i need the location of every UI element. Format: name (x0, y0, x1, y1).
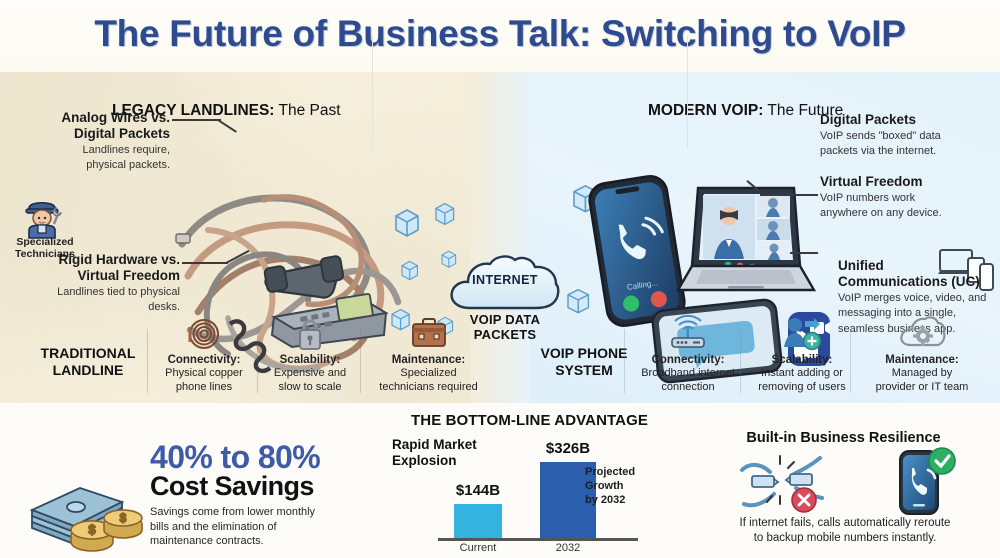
svg-text:$: $ (88, 522, 96, 537)
bar-category-2032: 2032 (523, 542, 613, 554)
technician-label-line1: Specialized (0, 236, 93, 248)
legacy-feature-connectivity: Connectivity: Physical copper phone line… (148, 315, 260, 403)
voip-scalability-line1: Instant adding or (761, 367, 843, 379)
callout-analog-wires-body-line2: physical packets. (18, 159, 170, 172)
wifi-router-icon (665, 317, 711, 351)
cost-savings-body-line1: Savings come from lower monthly (150, 505, 365, 520)
voip-panel-heading: MODERN VOIP: The Future (648, 102, 843, 120)
chart-title: THE BOTTOM-LINE ADVANTAGE (372, 412, 687, 429)
legacy-maintenance-text: Maintenance: Specialized technicians req… (361, 353, 496, 395)
cloud-gear-icon (899, 317, 945, 351)
divider (687, 36, 688, 148)
chart-annotation-line1: Projected (585, 466, 657, 480)
callout-digital-packets: Digital Packets VoIP sends "boxed" data … (820, 112, 996, 159)
legacy-scalability-line2: slow to scale (279, 381, 342, 393)
callout-rigid-hardware-body-line1: Landlines tied to physical (14, 286, 180, 299)
cost-savings-percent: 40% to 80% (150, 441, 360, 473)
leader-line-digital-packets (760, 194, 818, 196)
resilience-body-line2: to backup mobile numbers instantly. (700, 531, 990, 546)
legacy-scalability-label: Scalability: (258, 353, 362, 367)
legacy-system-label-line1: TRADITIONAL (18, 345, 158, 362)
voip-maintenance-text: Maintenance: Managed by provider or IT t… (851, 353, 993, 395)
legacy-system-label-line2: LANDLINE (18, 362, 158, 379)
legacy-scalability-line1: Expensive and (274, 367, 346, 379)
broken-cable-error-icon (740, 452, 828, 514)
resilience-title: Built-in Business Resilience (687, 430, 1000, 446)
cost-savings-body-line2: bills and the elimination of (150, 520, 365, 535)
legacy-connectivity-line1: Physical copper (165, 367, 243, 379)
copper-coil-icon (186, 317, 222, 351)
voip-maintenance-line2: provider or IT team (876, 381, 969, 393)
legacy-maintenance-label: Maintenance: (361, 353, 496, 367)
cloud-icon: INTERNET (446, 254, 564, 312)
leader-line-virtual-freedom (790, 252, 818, 254)
voip-connectivity-line1: Broadband internet (641, 367, 735, 379)
legacy-system-label: TRADITIONAL LANDLINE (18, 345, 158, 379)
voip-feature-maintenance: Maintenance: Managed by provider or IT t… (851, 315, 993, 403)
callout-uc-title-line1: Unified (838, 258, 998, 274)
callout-rigid-hardware: Rigid Hardware vs. Virtual Freedom Landl… (14, 252, 180, 315)
svg-text:$: $ (120, 511, 127, 525)
legacy-heading-rest: The Past (274, 102, 340, 119)
legacy-connectivity-line2: phone lines (176, 381, 232, 393)
legacy-connectivity-label: Connectivity: (148, 353, 260, 367)
page-title: The Future of Business Talk: Switching t… (0, 13, 1000, 55)
legacy-maintenance-line2: technicians required (379, 381, 477, 393)
leader-line-rigid (182, 262, 228, 264)
padlock-icon (295, 317, 325, 351)
resilience-body: If internet fails, calls automatically r… (700, 516, 990, 546)
callout-uc-title-line2: Communications (UC) (838, 274, 998, 290)
voip-heading-bold: MODERN VOIP: (648, 102, 763, 119)
bar-value-current: $144B (433, 482, 523, 499)
callout-uc-body-line1: VoIP merges voice, video, and (838, 292, 998, 305)
callout-virtual-freedom-body-line1: VoIP numbers work (820, 192, 980, 205)
resilience-body-line1: If internet fails, calls automatically r… (700, 516, 990, 531)
legacy-feature-maintenance: Maintenance: Specialized technicians req… (361, 315, 496, 403)
legacy-scalability-text: Scalability: Expensive and slow to scale (258, 353, 362, 395)
voip-maintenance-line1: Managed by (892, 367, 953, 379)
callout-rigid-hardware-title-line2: Virtual Freedom (14, 268, 180, 284)
callout-analog-wires-body-line1: Landlines require, (18, 144, 170, 157)
callout-digital-packets-body-line2: packets via the internet. (820, 145, 996, 158)
callout-virtual-freedom-body-line2: anywhere on any device. (820, 207, 980, 220)
laptop-video-call-icon (676, 180, 816, 296)
voip-maintenance-label: Maintenance: (851, 353, 993, 367)
chart-annotation: Projected Growth by 2032 (585, 466, 657, 508)
legacy-feature-scalability: Scalability: Expensive and slow to scale (258, 315, 362, 403)
bar-value-2032: $326B (523, 440, 613, 457)
bar-category-current: Current (433, 542, 523, 554)
cash-and-coins-icon: $ $ (26, 468, 146, 550)
voip-feature-connectivity: Connectivity: Broadband internet connect… (625, 315, 751, 403)
voip-connectivity-line2: connection (661, 381, 714, 393)
cloud-label: INTERNET (446, 273, 564, 287)
callout-digital-packets-title: Digital Packets (820, 112, 996, 128)
legacy-connectivity-text: Connectivity: Physical copper phone line… (148, 353, 260, 395)
callout-virtual-freedom-title: Virtual Freedom (820, 174, 980, 190)
voip-connectivity-label: Connectivity: (625, 353, 751, 367)
cost-savings-headline: Cost Savings (150, 473, 370, 500)
technician-worker-icon (20, 194, 64, 238)
callout-analog-wires-title-line1: Analog Wires vs. (18, 110, 170, 126)
callout-rigid-hardware-body-line2: desks. (14, 301, 180, 314)
voip-scalability-label: Scalability: (741, 353, 863, 367)
comparison-band: LEGACY LANDLINES: The Past (0, 72, 1000, 403)
leader-line-analog (172, 119, 220, 121)
callout-virtual-freedom: Virtual Freedom VoIP numbers work anywhe… (820, 174, 980, 221)
add-user-icon (781, 317, 823, 351)
bar-current (454, 504, 502, 538)
voip-feature-row: VOIP PHONE SYSTEM (500, 315, 1000, 403)
callout-rigid-hardware-title-line1: Rigid Hardware vs. (14, 252, 180, 268)
chart-annotation-line2: Growth (585, 480, 657, 494)
mobile-phone-check-icon (892, 448, 958, 516)
chart-annotation-line3: by 2032 (585, 494, 657, 508)
callout-analog-wires: Analog Wires vs. Digital Packets Landlin… (18, 110, 170, 173)
callout-analog-wires-title-line2: Digital Packets (18, 126, 170, 142)
voip-scalability-line2: removing of users (758, 381, 845, 393)
voip-scalability-text: Scalability: Instant adding or removing … (741, 353, 863, 395)
divider (372, 36, 373, 148)
cost-savings-body: Savings come from lower monthly bills an… (150, 505, 365, 549)
chart-axis (438, 538, 638, 541)
callout-digital-packets-body-line1: VoIP sends "boxed" data (820, 130, 996, 143)
legacy-maintenance-line1: Specialized (400, 367, 456, 379)
title-band: The Future of Business Talk: Switching t… (0, 0, 1000, 72)
legacy-feature-row: TRADITIONAL LANDLINE Connectivity: (0, 315, 500, 403)
infographic-canvas: The Future of Business Talk: Switching t… (0, 0, 1000, 558)
voip-connectivity-text: Connectivity: Broadband internet connect… (625, 353, 751, 395)
voip-feature-scalability: Scalability: Instant adding or removing … (741, 315, 863, 403)
toolbox-icon (410, 317, 448, 349)
cost-savings-body-line3: maintenance contracts. (150, 534, 365, 549)
